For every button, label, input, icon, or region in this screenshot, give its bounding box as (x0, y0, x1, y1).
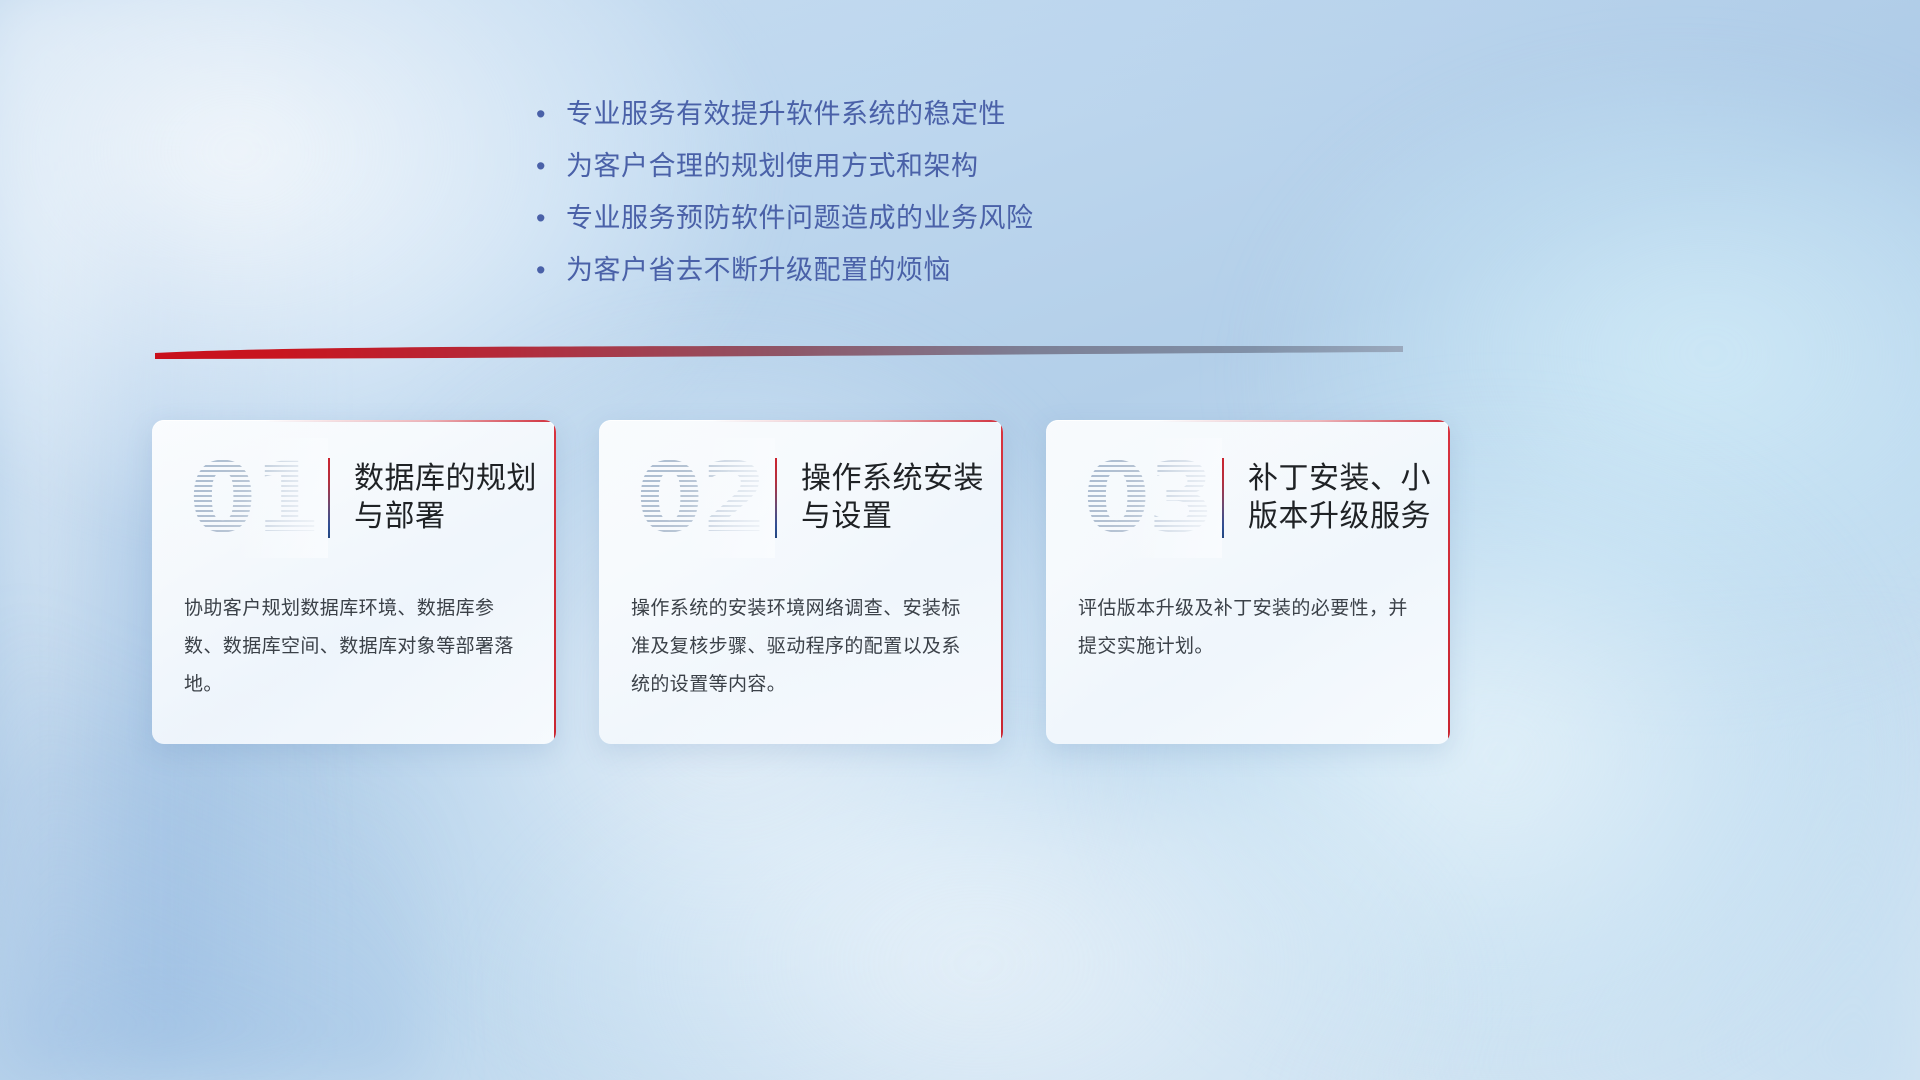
card-title-line2: 与设置 (801, 498, 984, 536)
card-title-divider (328, 458, 330, 538)
card-top-accent (265, 420, 556, 422)
card-header: 01 数据库的规划 与部署 (152, 438, 556, 558)
service-card[interactable]: 03 补丁安装、小 版本升级服务 评估版本升级及补丁安装的必要性，并提交实施计划… (1046, 420, 1450, 744)
card-number-watermark: 03 (1074, 438, 1222, 558)
service-card[interactable]: 02 操作系统安装 与设置 操作系统的安装环境网络调查、安装标准及复核步骤、驱动… (599, 420, 1003, 744)
card-number: 03 (1083, 450, 1213, 546)
card-title-line1: 数据库的规划 (354, 460, 537, 498)
list-item: • 专业服务预防软件问题造成的业务风险 (536, 196, 1156, 248)
service-card-grid: 01 数据库的规划 与部署 协助客户规划数据库环境、数据库参数、数据库空间、数据… (152, 420, 1452, 744)
card-title-line1: 补丁安装、小 (1248, 460, 1431, 498)
card-title-line2: 版本升级服务 (1248, 498, 1431, 536)
benefits-bullet-list: • 专业服务有效提升软件系统的稳定性 • 为客户合理的规划使用方式和架构 • 专… (536, 92, 1156, 300)
card-title-line1: 操作系统安装 (801, 460, 984, 498)
card-title: 数据库的规划 与部署 (354, 460, 547, 537)
card-title: 操作系统安装 与设置 (801, 460, 994, 537)
bullet-dot-icon: • (536, 205, 566, 232)
bullet-dot-icon: • (536, 257, 566, 284)
bullet-dot-icon: • (536, 153, 566, 180)
card-description: 协助客户规划数据库环境、数据库参数、数据库空间、数据库对象等部署落地。 (184, 590, 528, 704)
card-title-divider (1222, 458, 1224, 538)
card-description: 操作系统的安装环境网络调查、安装标准及复核步骤、驱动程序的配置以及系统的设置等内… (631, 590, 975, 704)
card-title-divider (775, 458, 777, 538)
bullet-dot-icon: • (536, 101, 566, 128)
card-title: 补丁安装、小 版本升级服务 (1248, 460, 1441, 537)
list-item: • 为客户省去不断升级配置的烦恼 (536, 248, 1156, 300)
card-top-accent (1159, 420, 1450, 422)
card-top-accent (712, 420, 1003, 422)
card-description: 评估版本升级及补丁安装的必要性，并提交实施计划。 (1078, 590, 1422, 666)
service-card[interactable]: 01 数据库的规划 与部署 协助客户规划数据库环境、数据库参数、数据库空间、数据… (152, 420, 556, 744)
bullet-text: 专业服务预防软件问题造成的业务风险 (566, 196, 1034, 235)
list-item: • 专业服务有效提升软件系统的稳定性 (536, 92, 1156, 144)
card-number-watermark: 01 (180, 438, 328, 558)
card-number: 02 (636, 450, 766, 546)
bullet-text: 为客户合理的规划使用方式和架构 (566, 144, 979, 183)
card-header: 02 操作系统安装 与设置 (599, 438, 1003, 558)
card-title-line2: 与部署 (354, 498, 537, 536)
bullet-text: 为客户省去不断升级配置的烦恼 (566, 248, 951, 287)
divider-shape (155, 346, 1403, 368)
section-divider (155, 346, 1403, 368)
card-number-watermark: 02 (627, 438, 775, 558)
bullet-text: 专业服务有效提升软件系统的稳定性 (566, 92, 1006, 131)
card-number: 01 (189, 450, 319, 546)
card-header: 03 补丁安装、小 版本升级服务 (1046, 438, 1450, 558)
list-item: • 为客户合理的规划使用方式和架构 (536, 144, 1156, 196)
